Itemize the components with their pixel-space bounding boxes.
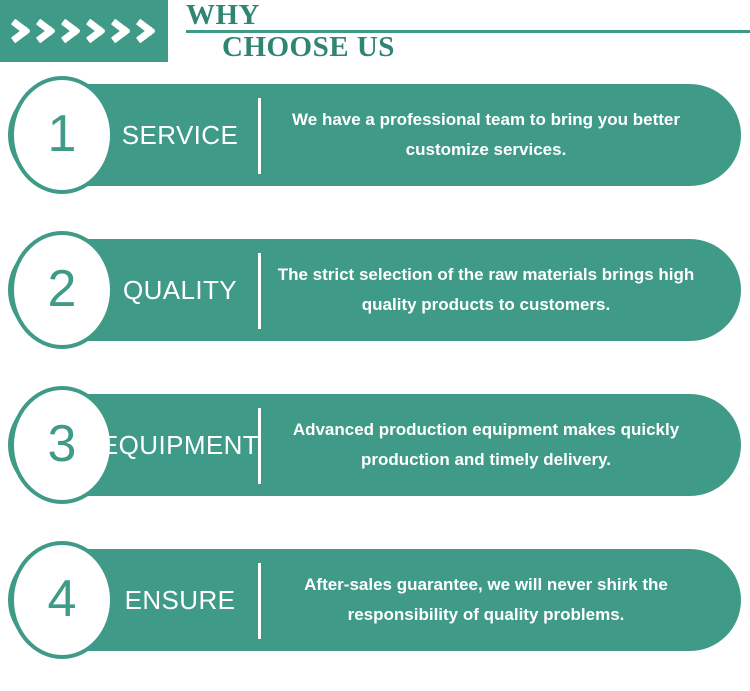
- feature-divider: [258, 408, 261, 484]
- chevron-row: [13, 11, 163, 51]
- chevron-right-icon: [63, 11, 80, 51]
- feature-divider: [258, 563, 261, 639]
- chevron-right-icon: [13, 11, 30, 51]
- feature-number-badge: 4: [10, 541, 114, 659]
- chevron-right-icon: [113, 11, 130, 51]
- feature-number-badge: 1: [10, 76, 114, 194]
- page-title-line2: CHOOSE US: [222, 33, 395, 62]
- feature-divider: [258, 253, 261, 329]
- feature-number-badge: 2: [10, 231, 114, 349]
- feature-row: 3 EQUIPMENT Advanced production equipmen…: [0, 386, 750, 504]
- feature-number-badge: 3: [10, 386, 114, 504]
- feature-label: SERVICE: [104, 84, 256, 186]
- feature-number: 3: [48, 418, 77, 470]
- page-title: WHY CHOOSE US: [186, 0, 750, 70]
- feature-divider: [258, 98, 261, 174]
- feature-description: After-sales guarantee, we will never shi…: [272, 549, 700, 651]
- feature-row: 2 QUALITY The strict selection of the ra…: [0, 231, 750, 349]
- feature-label: ENSURE: [104, 549, 256, 651]
- feature-description: We have a professional team to bring you…: [272, 84, 700, 186]
- feature-label: EQUIPMENT: [104, 394, 256, 496]
- chevron-right-icon: [38, 11, 55, 51]
- chevron-banner: [0, 0, 168, 62]
- feature-number: 2: [48, 263, 77, 315]
- feature-number: 4: [48, 573, 77, 625]
- why-choose-us-infographic: WHY CHOOSE US 1 SERVICE We have a profes…: [0, 0, 750, 691]
- feature-number: 1: [48, 108, 77, 160]
- feature-description: The strict selection of the raw material…: [272, 239, 700, 341]
- header: WHY CHOOSE US: [0, 0, 750, 70]
- feature-row: 4 ENSURE After-sales guarantee, we will …: [0, 541, 750, 659]
- feature-label: QUALITY: [104, 239, 256, 341]
- feature-row: 1 SERVICE We have a professional team to…: [0, 76, 750, 194]
- chevron-right-icon: [88, 11, 105, 51]
- page-title-line1: WHY: [186, 1, 260, 30]
- feature-description: Advanced production equipment makes quic…: [272, 394, 700, 496]
- chevron-right-icon: [138, 11, 155, 51]
